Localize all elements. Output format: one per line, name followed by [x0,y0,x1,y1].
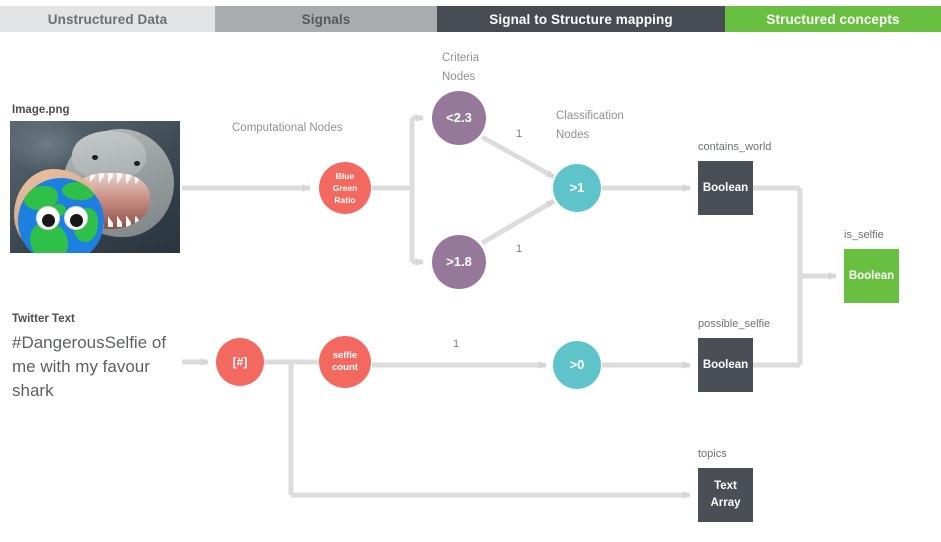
node-line: [#] [233,356,248,368]
node-line: selfie [333,350,357,362]
node-line: Array [710,495,740,512]
wire-gt18-to-gt1 [482,201,554,243]
output-possible-selfie[interactable]: Boolean [698,338,753,392]
node-blue-green-ratio[interactable]: Blue Green Ratio [319,162,371,214]
googly-eye-right [64,206,88,230]
node-classification-gt-0[interactable]: >0 [553,341,601,389]
phase-unstructured-data[interactable]: Unstructured Data [0,6,215,32]
edge-label-lt23-to-gt1: 1 [516,128,522,140]
globe-landmass [62,182,94,200]
pipeline-phase-bar: Unstructured Data Signals Signal to Stru… [0,6,941,32]
node-criteria-lt-2-3[interactable]: <2.3 [432,91,486,145]
output-topics[interactable]: Text Array [698,468,753,522]
node-line: Green [333,182,358,194]
output-caption-contains-world: contains_world [698,141,771,153]
node-line: Boolean [849,268,894,285]
label-computational-nodes: Computational Nodes [232,119,343,138]
shark-snout [72,131,146,179]
node-line: Ratio [334,194,355,206]
node-criteria-gt-1-8[interactable]: >1.8 [432,235,486,289]
node-line: count [332,362,358,374]
phase-structured-concepts[interactable]: Structured concepts [725,6,941,32]
edge-label-count-to-gt0: 1 [453,338,459,350]
edge-label-gt18-to-gt1: 1 [516,243,522,255]
node-line: Text [714,478,737,495]
node-hashtag[interactable]: [#] [216,338,264,386]
phase-label: Signals [302,12,351,27]
phase-label: Structured concepts [766,12,899,27]
phase-signal-to-structure-mapping[interactable]: Signal to Structure mapping [437,6,725,32]
image-caption: Image.png [12,104,70,116]
text-caption: Twitter Text [12,313,75,325]
shark-eye-right [134,161,140,166]
label-classification-nodes-line2: Nodes [556,126,589,145]
diagram-canvas: Unstructured Data Signals Signal to Stru… [0,0,941,542]
googly-pupil [42,214,55,227]
label-classification-nodes-line1: Classification [556,107,624,126]
output-caption-topics: topics [698,448,727,460]
label-criteria-nodes-line1: Criteria [442,49,479,68]
phase-label: Unstructured Data [48,12,167,27]
output-contains-world[interactable]: Boolean [698,161,753,215]
phase-signals[interactable]: Signals [215,6,437,32]
node-line: >1 [570,182,585,194]
node-line: <2.3 [446,112,472,124]
input-image-thumbnail[interactable] [10,121,180,253]
node-line: >1.8 [446,256,472,268]
tweet-text: #DangerousSelfie of me with my favour sh… [12,331,192,403]
wire-lt23-to-gt1 [482,137,554,177]
googly-pupil [70,214,83,227]
globe-emoji-overlay [18,178,104,253]
node-line: Boolean [703,357,748,374]
node-line: >0 [570,359,585,371]
googly-eye-left [36,206,60,230]
shark-eye-left [92,155,98,160]
phase-label: Signal to Structure mapping [489,12,672,27]
output-caption-possible-selfie: possible_selfie [698,318,770,330]
node-classification-gt-1[interactable]: >1 [553,164,601,212]
output-caption-is-selfie: is_selfie [844,229,884,241]
output-is-selfie[interactable]: Boolean [844,249,899,303]
node-selfie-count[interactable]: selfie count [319,336,371,388]
node-line: Boolean [703,180,748,197]
label-criteria-nodes-line2: Nodes [442,68,475,87]
node-line: Blue [336,170,354,182]
